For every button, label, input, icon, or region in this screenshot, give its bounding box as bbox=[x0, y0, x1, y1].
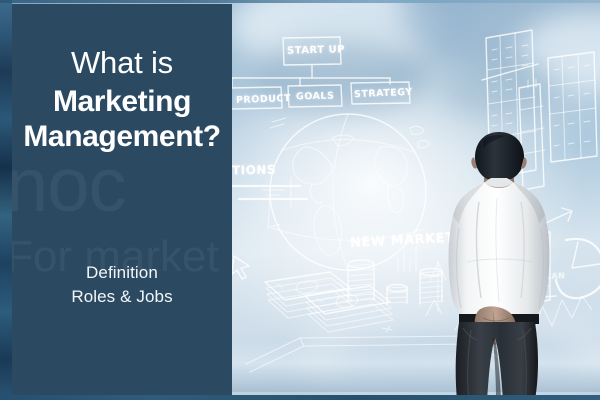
title-line-1: What is bbox=[23, 46, 220, 81]
left-edge-strip bbox=[0, 0, 12, 400]
title-panel: noc For market What is Marketing Managem… bbox=[12, 4, 232, 396]
subtitle-line-2: Roles & Jobs bbox=[71, 285, 172, 309]
subtitle-line-1: Definition bbox=[71, 261, 172, 285]
title-line-3: Management? bbox=[23, 120, 220, 155]
marketing-management-banner: START UP PRODUCT GOALS STRATEGY TIONS NE… bbox=[0, 0, 600, 400]
top-edge-strip bbox=[0, 0, 600, 3]
businessman-photo bbox=[435, 132, 565, 400]
title-line-2: Marketing bbox=[23, 85, 220, 120]
page-title: What is Marketing Management? bbox=[23, 46, 220, 154]
page-subtitle: Definition Roles & Jobs bbox=[71, 261, 172, 309]
